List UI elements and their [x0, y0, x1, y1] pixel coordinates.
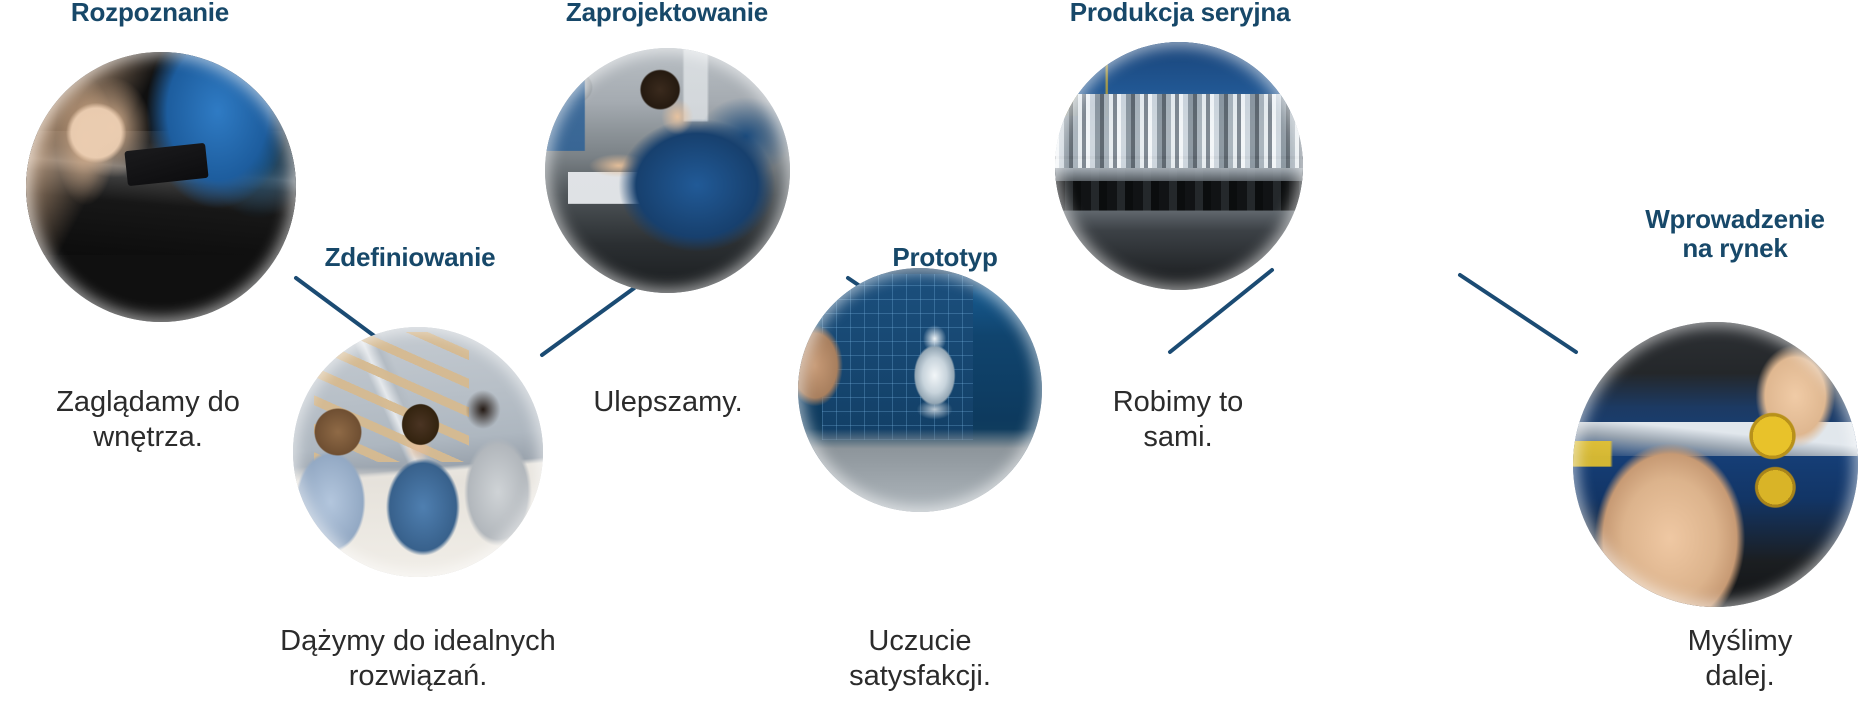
stage-title-wprowadzenie-na-rynek: Wprowadzenie na rynek [1610, 205, 1860, 263]
stage-title-rozpoznanie: Rozpoznanie [10, 0, 290, 27]
photo-feather [1573, 322, 1858, 607]
process-infographic: Rozpoznanie Zaglądamy do wnętrza. Zdefin… [0, 0, 1869, 705]
photo-feather [545, 48, 790, 293]
stage-caption-zdefiniowanie: Dążymy do idealnych rozwiązań. [248, 624, 588, 695]
stage-caption-zaprojektowanie: Ulepszamy. [528, 385, 808, 420]
stage-image-produkcja-seryjna [1055, 42, 1303, 290]
stage-title-zaprojektowanie: Zaprojektowanie [527, 0, 807, 27]
stage-title-zdefiniowanie: Zdefiniowanie [265, 243, 555, 272]
stage-caption-prototyp: Uczucie satysfakcji. [800, 624, 1040, 695]
stage-caption-wprowadzenie-na-rynek: Myślimy dalej. [1620, 624, 1860, 695]
stage-caption-produkcja-seryjna: Robimy to sami. [1058, 385, 1298, 456]
stage-image-wprowadzenie-na-rynek [1573, 322, 1858, 607]
photo-feather [26, 52, 296, 322]
photo-feather [293, 327, 543, 577]
photo-feather [1055, 42, 1303, 290]
connector-5-6 [1460, 275, 1576, 352]
stage-image-zdefiniowanie [293, 327, 543, 577]
photo-feather [798, 268, 1042, 512]
stage-image-zaprojektowanie [545, 48, 790, 293]
stage-title-produkcja-seryjna: Produkcja seryjna [1035, 0, 1325, 27]
stage-image-prototyp [798, 268, 1042, 512]
stage-caption-rozpoznanie: Zaglądamy do wnętrza. [8, 385, 288, 456]
stage-image-rozpoznanie [26, 52, 296, 322]
